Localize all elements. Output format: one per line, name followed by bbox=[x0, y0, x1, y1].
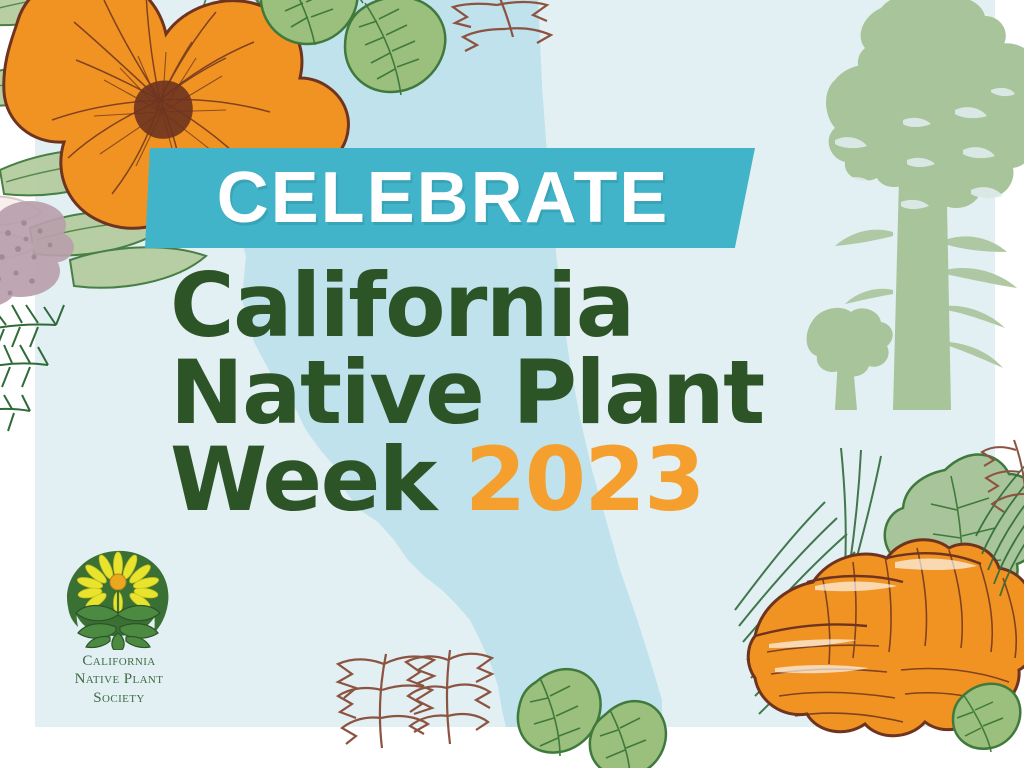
headline-week-word: Week bbox=[170, 428, 436, 531]
headline-line-3: Week 2023 bbox=[170, 436, 870, 523]
headline-line-2: Native Plant bbox=[170, 349, 870, 436]
logo-wordmark: California Native Plant Society bbox=[58, 652, 180, 707]
cnps-daisy-emblem bbox=[58, 545, 178, 650]
logo-line-2: Native Plant bbox=[58, 670, 180, 688]
headline-line-1: California bbox=[170, 262, 870, 349]
logo-line-1: California bbox=[58, 652, 180, 670]
celebrate-banner: CELEBRATE bbox=[145, 148, 755, 248]
page-title: California Native Plant Week 2023 bbox=[170, 262, 870, 523]
headline-year: 2023 bbox=[465, 428, 704, 531]
poster-canvas: CELEBRATE California Native Plant Week 2… bbox=[0, 0, 1024, 768]
cnps-logo: California Native Plant Society bbox=[58, 545, 183, 720]
logo-line-3: Society bbox=[58, 689, 180, 707]
banner-label: CELEBRATE bbox=[145, 162, 755, 234]
